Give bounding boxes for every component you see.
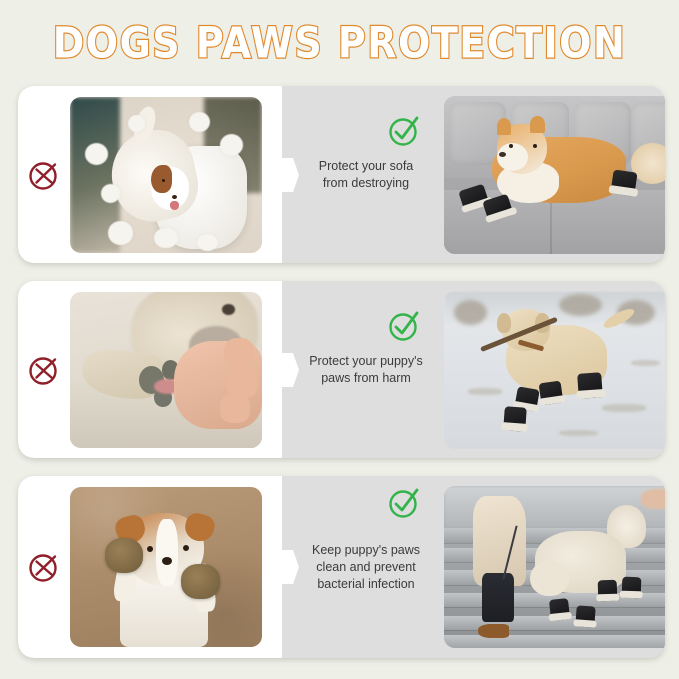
check-circle-icon	[386, 484, 422, 520]
problem-block-2	[18, 281, 282, 458]
check-circle-icon	[386, 307, 422, 343]
caption-line-3: bacterial infection	[296, 576, 436, 593]
benefit-panel-1: Protect your sofa from destroying	[18, 86, 665, 263]
caption-3: Keep puppy's paws clean and prevent bact…	[282, 542, 436, 593]
benefit-panel-3: Keep puppy's paws clean and prevent bact…	[18, 476, 665, 658]
check-circle-icon	[386, 112, 422, 148]
problem-block-1	[18, 86, 282, 263]
problem-photo-1	[70, 97, 262, 253]
problem-block-3	[18, 476, 282, 658]
caption-2: Protect your puppy's paws from harm	[282, 353, 436, 387]
solution-photo-1	[444, 96, 665, 254]
caption-1: Protect your sofa from destroying	[282, 158, 436, 192]
benefit-panel-2: Protect your puppy's paws from harm	[18, 281, 665, 458]
solution-photo-2	[444, 291, 665, 449]
caption-line-2: clean and prevent	[296, 559, 436, 576]
problem-photo-2	[70, 292, 262, 448]
page-title: DOGS PAWS PROTECTION	[53, 18, 627, 67]
solution-block-3: Keep puppy's paws clean and prevent bact…	[282, 476, 665, 658]
header: DOGS PAWS PROTECTION	[0, 0, 679, 86]
caption-line-1: Protect your sofa	[296, 158, 436, 175]
caption-line-1: Keep puppy's paws	[296, 542, 436, 559]
solution-block-2: Protect your puppy's paws from harm	[282, 281, 665, 458]
cross-circle-icon	[18, 353, 70, 387]
caption-line-2: from destroying	[296, 175, 436, 192]
caption-line-1: Protect your puppy's	[296, 353, 436, 370]
problem-photo-3	[70, 487, 262, 647]
caption-line-2: paws from harm	[296, 370, 436, 387]
cross-circle-icon	[18, 550, 70, 584]
solution-photo-3	[444, 486, 665, 648]
cross-circle-icon	[18, 158, 70, 192]
solution-block-1: Protect your sofa from destroying	[282, 86, 665, 263]
